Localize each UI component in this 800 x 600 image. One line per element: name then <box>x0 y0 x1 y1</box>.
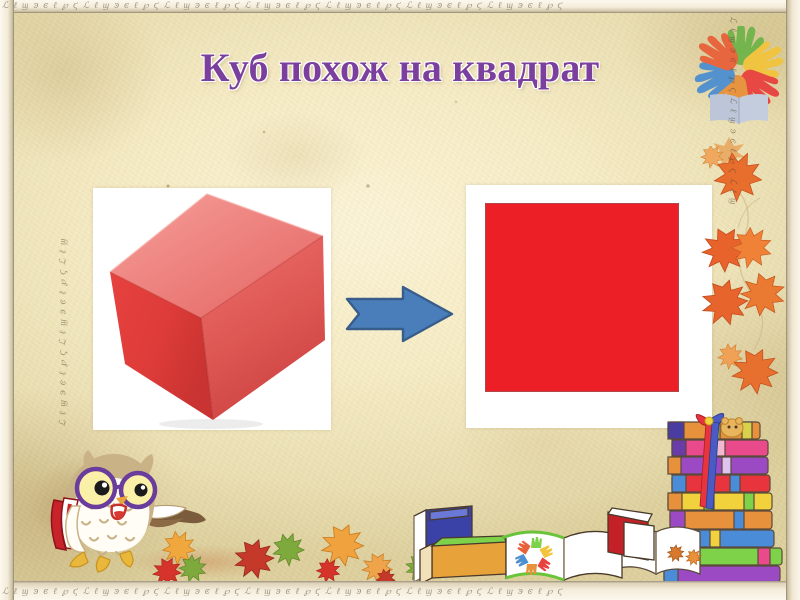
leaves-column-right <box>690 146 796 416</box>
square-image-card <box>466 185 712 428</box>
red-square-shape <box>485 203 679 392</box>
blue-right-arrow <box>343 283 456 345</box>
slide-title: Куб похож на квадрат <box>0 44 800 92</box>
cube-image-card <box>93 188 331 430</box>
logo-open-book <box>710 94 768 124</box>
book-tag <box>721 418 743 437</box>
cartoon-owl-with-glasses-holding-book <box>28 428 210 588</box>
slide-canvas: Куб похож на квадрат <box>0 0 800 600</box>
open-books-on-desk <box>398 492 660 588</box>
red-3d-cube <box>93 188 331 430</box>
